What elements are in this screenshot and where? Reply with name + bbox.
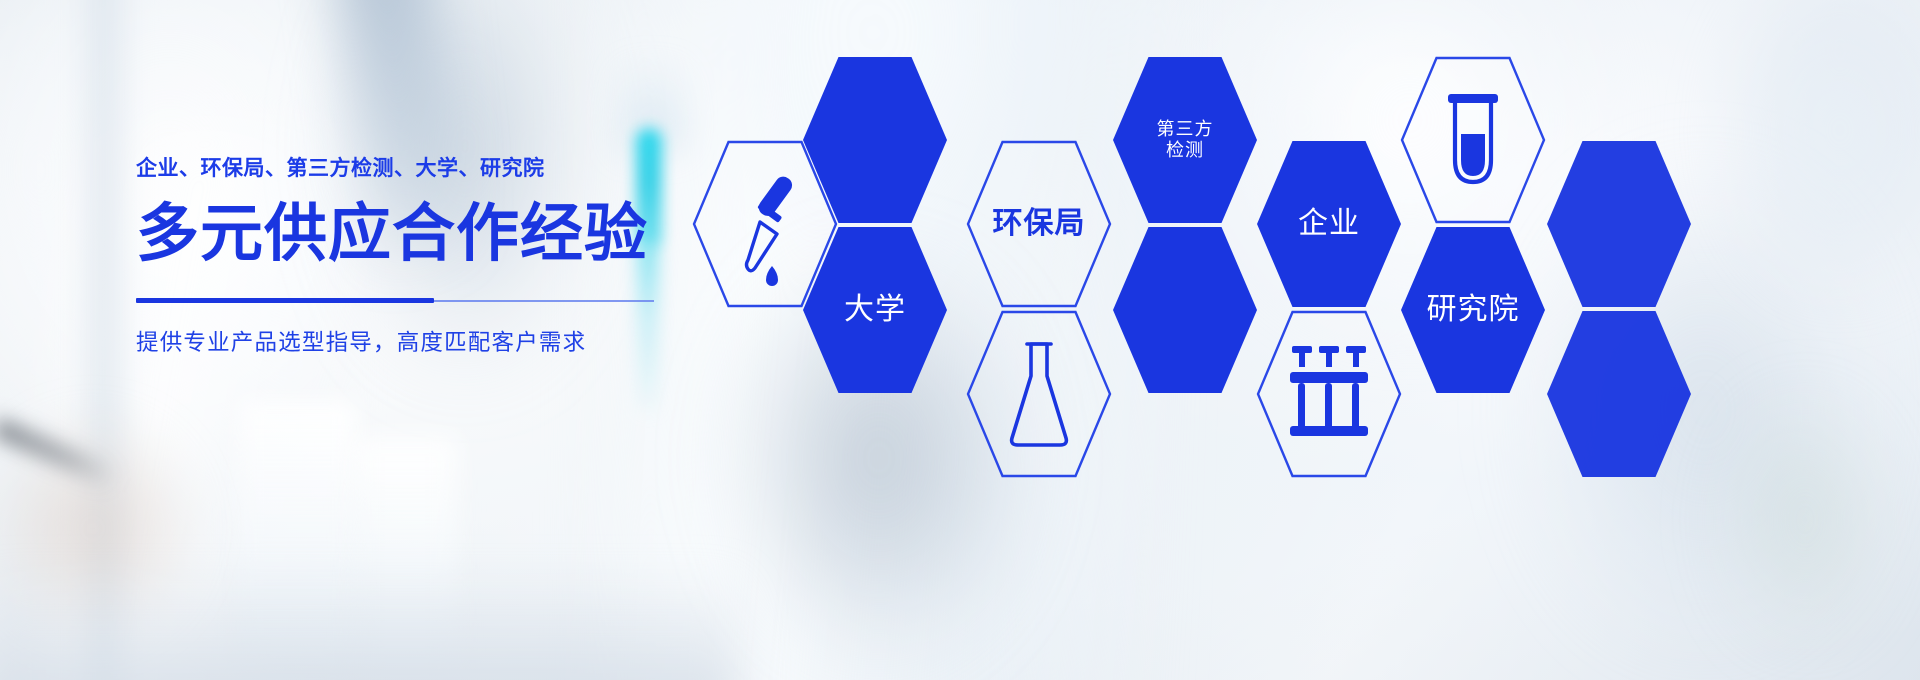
hex-yanjiuyuan[interactable]: 研究院: [1400, 226, 1546, 394]
hexagon-cluster: 大学 环保局: [0, 0, 1920, 680]
hex-testtube[interactable]: [1400, 56, 1546, 224]
hex-qiye[interactable]: 企业: [1256, 140, 1402, 308]
hex-tuberack[interactable]: [1256, 310, 1402, 478]
hex-edge-bottom[interactable]: [1546, 310, 1692, 478]
hex-daxue[interactable]: 大学: [802, 226, 948, 394]
promo-banner: 企业、环保局、第三方检测、大学、研究院 多元供应合作经验 提供专业产品选型指导，…: [0, 0, 1920, 680]
test-tube-rack-icon: [1290, 346, 1368, 436]
hex-blank-mid[interactable]: [1112, 226, 1258, 394]
hex-flask[interactable]: [966, 310, 1112, 478]
hex-huanbaoju[interactable]: 环保局: [966, 140, 1112, 308]
hex-blank-top[interactable]: [802, 56, 948, 224]
hex-disanfang[interactable]: 第三方 检测: [1112, 56, 1258, 224]
hex-edge-top[interactable]: [1546, 140, 1692, 308]
